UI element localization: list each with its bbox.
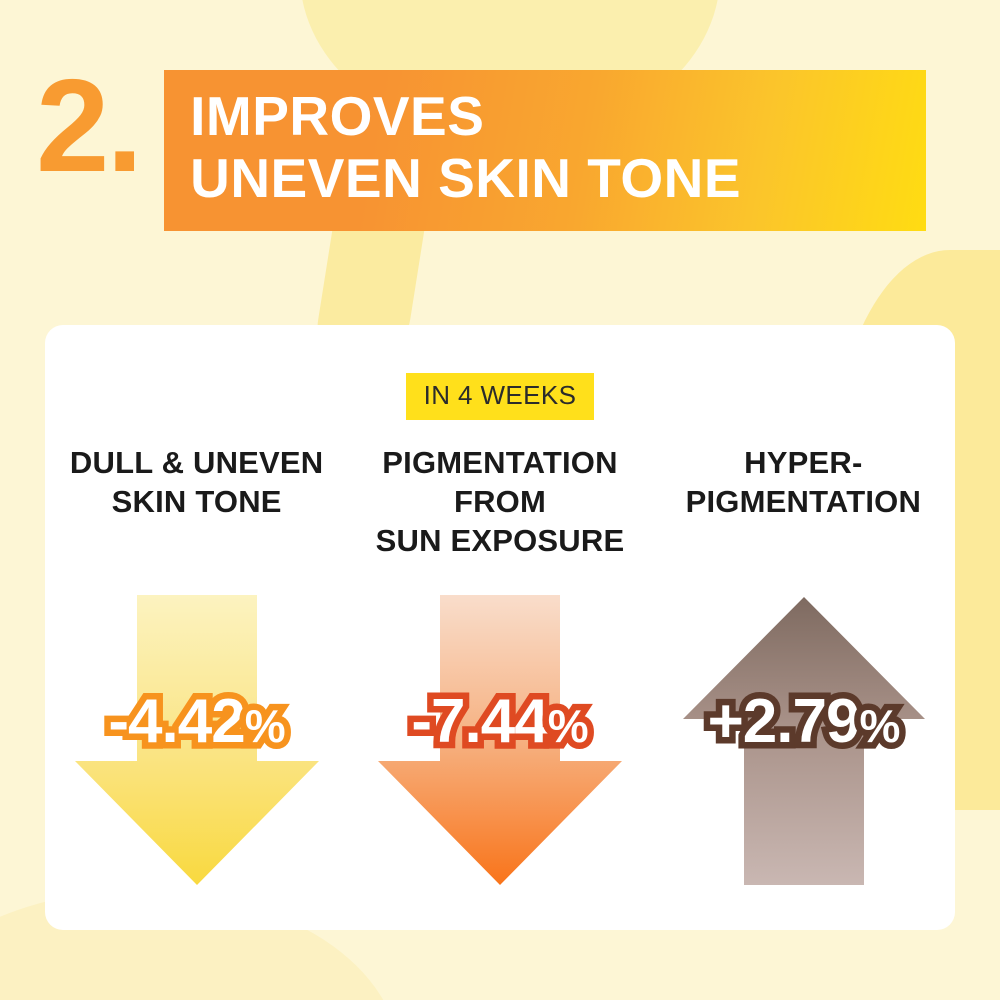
stat-column-1: PIGMENTATION FROM SUN EXPOSURE <box>348 443 651 560</box>
badge-row: IN 4 WEEKS <box>45 373 955 420</box>
header: 2. IMPROVES UNEVEN SKIN TONE <box>0 60 1000 250</box>
stat-column-0: DULL & UNEVEN SKIN TONE <box>45 443 348 560</box>
title-banner: IMPROVES UNEVEN SKIN TONE <box>164 70 926 231</box>
stat-value-percent-0: % <box>245 700 285 752</box>
page-title-line-2: UNEVEN SKIN TONE <box>190 148 900 210</box>
stat-heading-2: HYPER- PIGMENTATION <box>680 443 927 521</box>
stat-value-number-2: +2.79 <box>708 687 860 756</box>
stat-value-2: +2.79% <box>708 691 900 753</box>
column-headings: DULL & UNEVEN SKIN TONE PIGMENTATION FRO… <box>45 443 955 560</box>
stats-card: IN 4 WEEKS DULL & UNEVEN SKIN TONE PIGME… <box>45 325 955 930</box>
page-title-line-1: IMPROVES <box>190 86 900 148</box>
stat-value-0: -4.42% <box>108 691 284 753</box>
stat-heading-1: PIGMENTATION FROM SUN EXPOSURE <box>370 443 631 560</box>
arrow-slot-1: -7.44% <box>348 593 651 893</box>
stat-value-percent-1: % <box>548 700 588 752</box>
arrow-slot-2: +2.79% <box>652 593 955 893</box>
stat-value-1: -7.44% <box>411 691 587 753</box>
stat-column-2: HYPER- PIGMENTATION <box>652 443 955 560</box>
step-number: 2. <box>36 60 140 192</box>
timeframe-badge: IN 4 WEEKS <box>406 373 595 420</box>
arrow-slot-0: -4.42% <box>45 593 348 893</box>
stat-value-number-0: -4.42 <box>108 687 244 756</box>
arrow-area: -4.42% -7.44% <box>45 593 955 893</box>
stat-value-percent-2: % <box>859 700 899 752</box>
stat-value-number-1: -7.44 <box>411 687 547 756</box>
stat-heading-0: DULL & UNEVEN SKIN TONE <box>64 443 330 521</box>
